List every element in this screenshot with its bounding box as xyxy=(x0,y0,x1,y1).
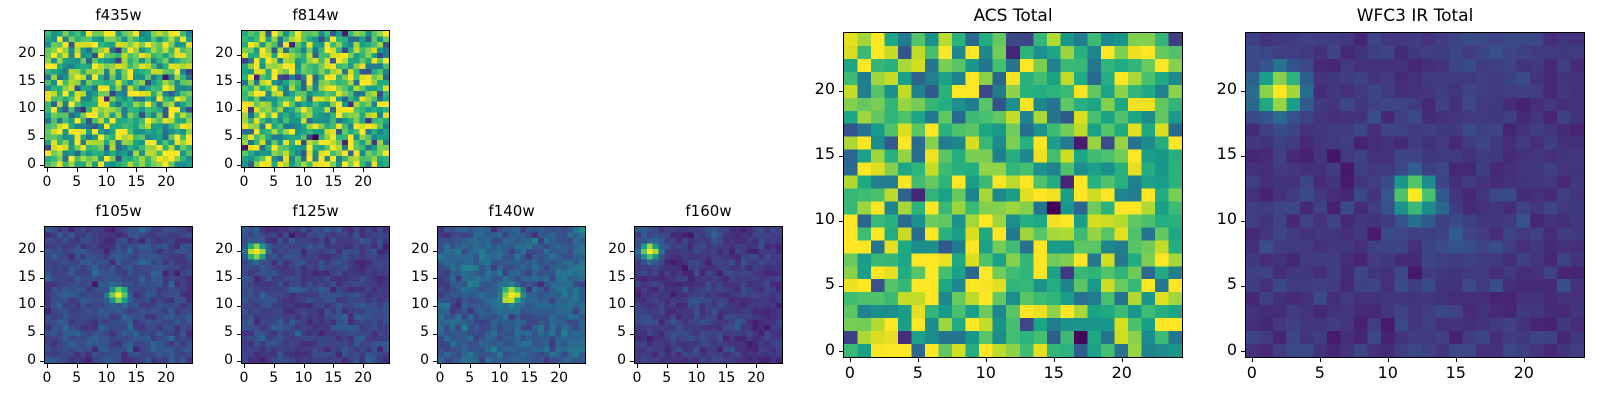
x-tick-mark xyxy=(470,364,471,368)
x-tick-label: 10 xyxy=(667,371,727,385)
x-tick-mark xyxy=(304,168,305,172)
panel-title-f435w: f435w xyxy=(44,8,193,23)
x-tick-mark xyxy=(107,168,108,172)
x-tick-label: 10 xyxy=(956,365,1016,381)
y-tick-label: 15 xyxy=(0,74,36,88)
x-tick-mark xyxy=(304,364,305,368)
x-tick-label: 0 xyxy=(214,175,274,189)
x-tick-mark xyxy=(47,168,48,172)
x-tick-label: 20 xyxy=(529,371,589,385)
x-tick-label: 5 xyxy=(47,175,107,189)
y-tick-label: 20 xyxy=(0,46,36,60)
x-tick-mark xyxy=(726,364,727,368)
y-tick-label: 5 xyxy=(779,276,835,292)
x-tick-label: 10 xyxy=(77,175,137,189)
heatmap-axes-f105w[interactable] xyxy=(44,226,193,364)
panel-title-f140w: f140w xyxy=(437,204,586,219)
x-tick-label: 0 xyxy=(17,371,77,385)
x-tick-mark xyxy=(1388,358,1389,362)
panel-title-f125w: f125w xyxy=(241,204,390,219)
y-tick-label: 0 xyxy=(0,157,36,171)
x-tick-mark xyxy=(166,364,167,368)
x-tick-label: 10 xyxy=(77,371,137,385)
x-tick-label: 15 xyxy=(106,371,166,385)
x-tick-mark xyxy=(244,364,245,368)
x-tick-mark xyxy=(274,364,275,368)
x-tick-mark xyxy=(77,364,78,368)
heatmap-axes-wfc3-ir-total[interactable] xyxy=(1245,32,1585,358)
x-tick-mark xyxy=(136,168,137,172)
x-tick-label: 10 xyxy=(470,371,530,385)
panel-title-f105w: f105w xyxy=(44,204,193,219)
x-tick-mark xyxy=(440,364,441,368)
heatmap-image-f125w xyxy=(242,227,389,363)
x-tick-mark xyxy=(333,364,334,368)
y-tick-label: 5 xyxy=(0,325,36,339)
x-tick-label: 5 xyxy=(637,371,697,385)
figure-canvas: f435w0510152005101520f814w05101520051015… xyxy=(0,0,1600,400)
x-tick-label: 5 xyxy=(888,365,948,381)
x-tick-label: 5 xyxy=(47,371,107,385)
x-tick-mark xyxy=(637,364,638,368)
heatmap-axes-f125w[interactable] xyxy=(241,226,390,364)
x-tick-mark xyxy=(333,168,334,172)
x-tick-mark xyxy=(274,168,275,172)
x-tick-mark xyxy=(136,364,137,368)
x-tick-mark xyxy=(166,168,167,172)
x-tick-mark xyxy=(1524,358,1525,362)
y-tick-label: 10 xyxy=(0,101,36,115)
x-tick-mark xyxy=(363,364,364,368)
y-tick-label: 20 xyxy=(779,81,835,97)
x-tick-label: 15 xyxy=(1426,365,1486,381)
panel-title-acs-total: ACS Total xyxy=(843,8,1183,25)
x-tick-label: 5 xyxy=(1290,365,1350,381)
panel-title-wfc3-ir-total: WFC3 IR Total xyxy=(1245,8,1585,25)
x-tick-label: 10 xyxy=(1358,365,1418,381)
heatmap-image-f105w xyxy=(45,227,192,363)
x-tick-mark xyxy=(559,364,560,368)
x-tick-label: 20 xyxy=(1494,365,1554,381)
x-tick-label: 0 xyxy=(410,371,470,385)
x-tick-mark xyxy=(756,364,757,368)
y-tick-label: 10 xyxy=(0,297,36,311)
y-tick-label: 5 xyxy=(1181,276,1237,292)
x-tick-mark xyxy=(1252,358,1253,362)
y-tick-label: 15 xyxy=(0,270,36,284)
y-tick-label: 0 xyxy=(779,342,835,358)
x-tick-label: 20 xyxy=(1092,365,1152,381)
x-tick-label: 0 xyxy=(1222,365,1282,381)
y-tick-label: 20 xyxy=(0,242,36,256)
x-tick-mark xyxy=(1122,358,1123,362)
x-tick-mark xyxy=(500,364,501,368)
x-tick-label: 20 xyxy=(333,371,393,385)
heatmap-axes-f814w[interactable] xyxy=(241,30,390,168)
x-tick-label: 20 xyxy=(333,175,393,189)
x-tick-label: 15 xyxy=(303,371,363,385)
y-tick-label: 10 xyxy=(779,211,835,227)
panel-wfc3-ir-total: WFC3 IR Total0510152005101520 xyxy=(0,0,1600,400)
x-tick-mark xyxy=(986,358,987,362)
x-tick-mark xyxy=(667,364,668,368)
y-tick-label: 0 xyxy=(1181,342,1237,358)
x-tick-mark xyxy=(77,168,78,172)
x-tick-label: 5 xyxy=(244,175,304,189)
y-tick-label: 20 xyxy=(1181,81,1237,97)
x-tick-label: 15 xyxy=(1024,365,1084,381)
x-tick-mark xyxy=(107,364,108,368)
x-tick-label: 20 xyxy=(726,371,786,385)
heatmap-image-wfc3-ir-total xyxy=(1246,33,1584,357)
x-tick-mark xyxy=(850,358,851,362)
heatmap-axes-acs-total[interactable] xyxy=(843,32,1183,358)
x-tick-label: 0 xyxy=(17,175,77,189)
x-tick-label: 0 xyxy=(820,365,880,381)
heatmap-image-acs-total xyxy=(844,33,1182,357)
heatmap-axes-f160w[interactable] xyxy=(634,226,783,364)
heatmap-image-f814w xyxy=(242,31,389,167)
x-tick-label: 20 xyxy=(136,371,196,385)
x-tick-label: 15 xyxy=(303,175,363,189)
x-tick-label: 5 xyxy=(440,371,500,385)
x-tick-mark xyxy=(697,364,698,368)
heatmap-axes-f140w[interactable] xyxy=(437,226,586,364)
x-tick-mark xyxy=(1456,358,1457,362)
x-tick-label: 15 xyxy=(696,371,756,385)
heatmap-image-f435w xyxy=(45,31,192,167)
x-tick-label: 10 xyxy=(274,175,334,189)
panel-title-f814w: f814w xyxy=(241,8,390,23)
x-tick-mark xyxy=(918,358,919,362)
x-tick-mark xyxy=(1320,358,1321,362)
x-tick-mark xyxy=(1054,358,1055,362)
y-tick-label: 15 xyxy=(779,146,835,162)
x-tick-label: 0 xyxy=(607,371,667,385)
y-tick-label: 10 xyxy=(1181,211,1237,227)
x-tick-label: 10 xyxy=(274,371,334,385)
x-tick-label: 0 xyxy=(214,371,274,385)
x-tick-label: 5 xyxy=(244,371,304,385)
x-tick-mark xyxy=(47,364,48,368)
x-tick-label: 15 xyxy=(106,175,166,189)
panel-title-f160w: f160w xyxy=(634,204,783,219)
x-tick-mark xyxy=(529,364,530,368)
heatmap-image-f160w xyxy=(635,227,782,363)
y-tick-label: 0 xyxy=(0,353,36,367)
heatmap-image-f140w xyxy=(438,227,585,363)
heatmap-axes-f435w[interactable] xyxy=(44,30,193,168)
y-tick-label: 5 xyxy=(0,129,36,143)
x-tick-mark xyxy=(244,168,245,172)
x-tick-label: 15 xyxy=(499,371,559,385)
x-tick-mark xyxy=(363,168,364,172)
y-tick-label: 15 xyxy=(1181,146,1237,162)
x-tick-label: 20 xyxy=(136,175,196,189)
